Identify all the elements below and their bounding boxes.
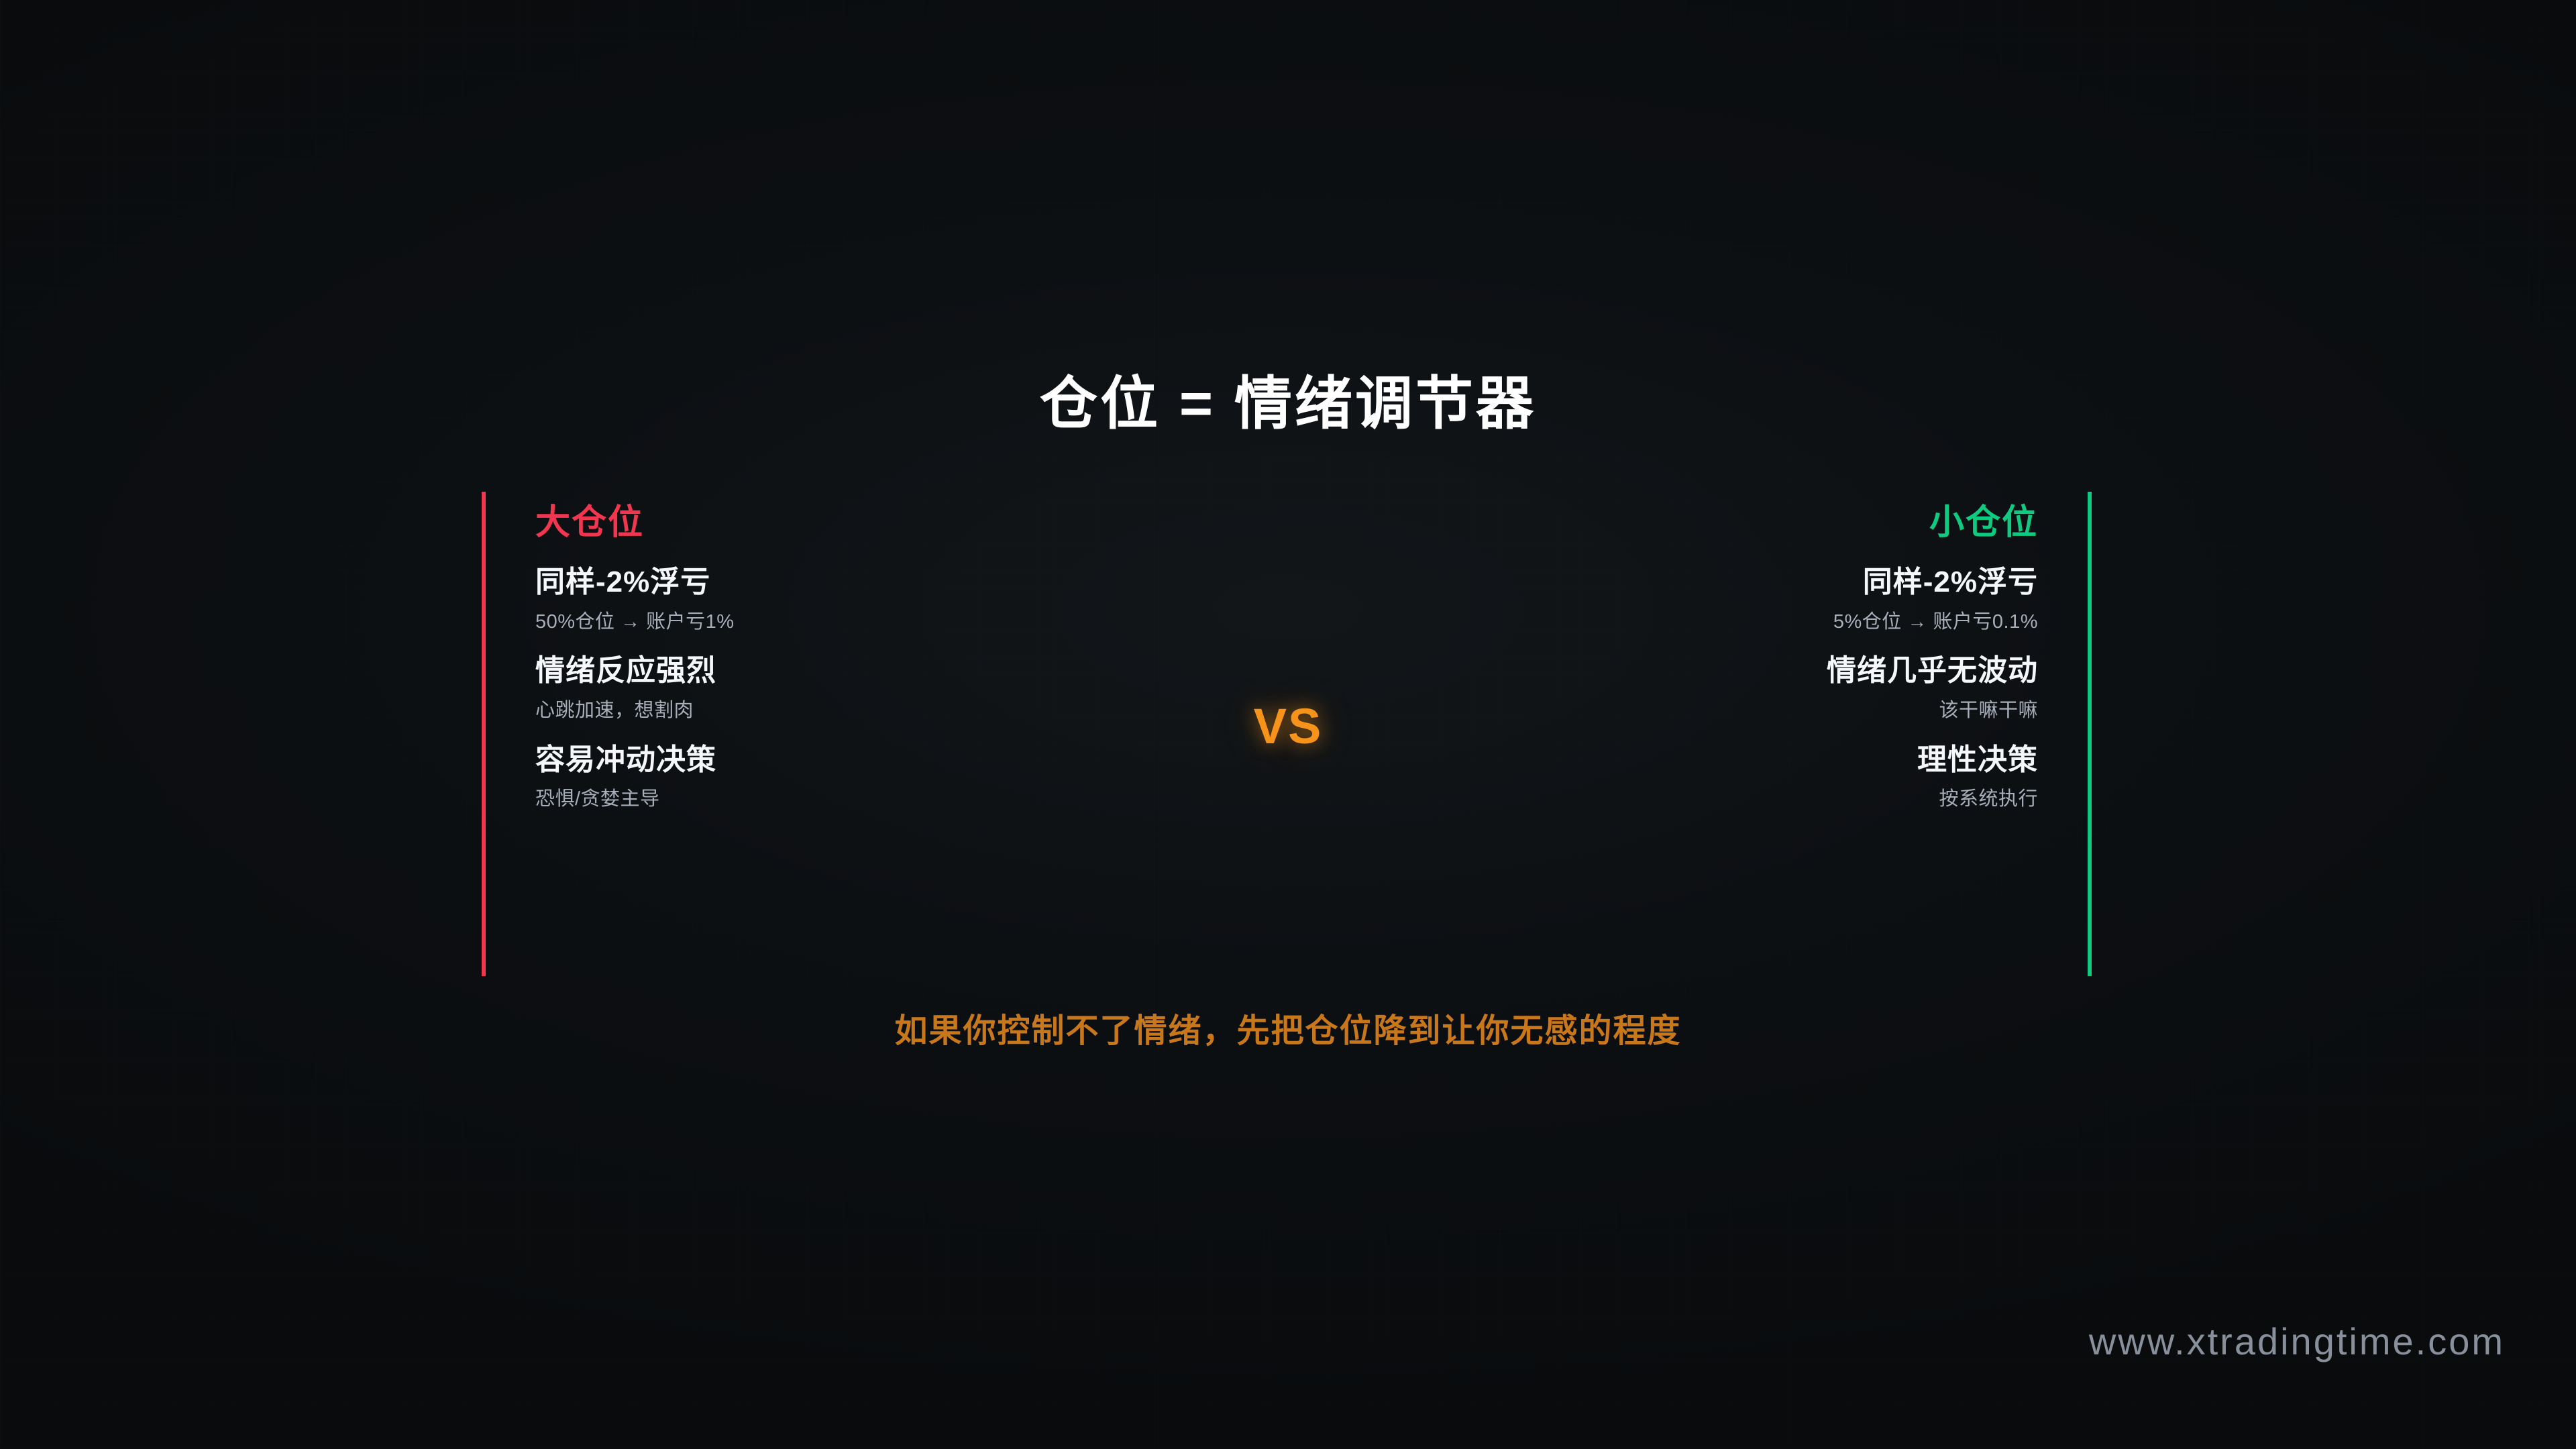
column-heading-small-position: 小仓位	[1394, 505, 2038, 540]
watermark-url: www.xtradingtime.com	[2089, 1320, 2505, 1363]
list-item: 同样-2%浮亏 5%仓位 → 账户亏0.1%	[1394, 566, 2038, 633]
tagline-text: 如果你控制不了情绪，先把仓位降到让你无感的程度	[0, 1004, 2576, 1052]
right-row-list: 同样-2%浮亏 5%仓位 → 账户亏0.1% 情绪几乎无波动 该干嘛干嘛 理性决…	[1394, 566, 2038, 811]
slide-canvas: 仓位 = 情绪调节器 大仓位 同样-2%浮亏 50%仓位 → 账户亏1% 情绪反…	[0, 0, 2576, 1449]
row-main-text: 情绪反应强烈	[535, 654, 1179, 688]
row-sub-text: 恐惧/贪婪主导	[535, 788, 1179, 811]
row-sub-text: 5%仓位 → 账户亏0.1%	[1394, 610, 2038, 634]
row-sub-text: 50%仓位 → 账户亏1%	[535, 610, 1179, 634]
row-main-text: 情绪几乎无波动	[1394, 654, 2038, 688]
row-main-text: 同样-2%浮亏	[1394, 566, 2038, 600]
column-heading-large-position: 大仓位	[535, 505, 1179, 540]
row-sub-text: 按系统执行	[1394, 788, 2038, 811]
list-item: 同样-2%浮亏 50%仓位 → 账户亏1%	[535, 566, 1179, 633]
column-large-position: 大仓位 同样-2%浮亏 50%仓位 → 账户亏1% 情绪反应强烈 心跳加速，想割…	[535, 492, 1179, 811]
page-title: 仓位 = 情绪调节器	[0, 372, 2576, 436]
left-row-list: 同样-2%浮亏 50%仓位 → 账户亏1% 情绪反应强烈 心跳加速，想割肉 容易…	[535, 566, 1179, 811]
column-small-position: 小仓位 同样-2%浮亏 5%仓位 → 账户亏0.1% 情绪几乎无波动 该干嘛干嘛…	[1394, 492, 2038, 811]
vs-badge: VS	[0, 698, 2576, 755]
row-main-text: 同样-2%浮亏	[535, 566, 1179, 600]
